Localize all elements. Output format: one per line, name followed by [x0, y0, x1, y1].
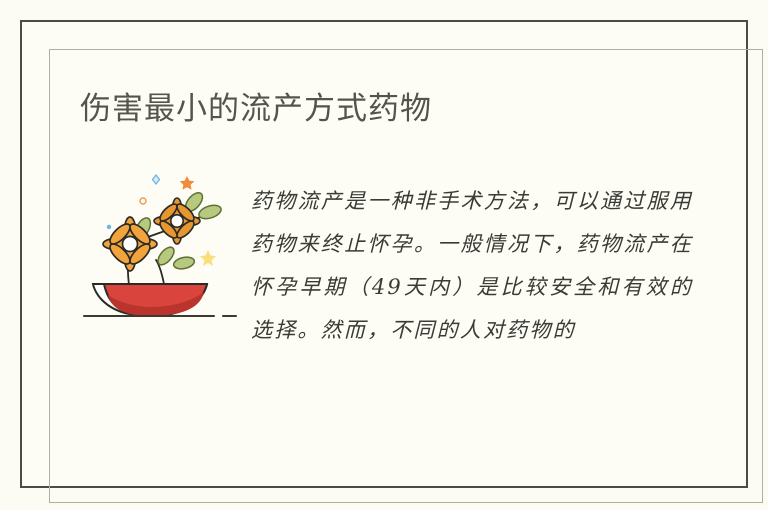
potted-flowers-svg: [80, 164, 240, 329]
page-title: 伤害最小的流产方式药物: [80, 88, 432, 130]
sparkle-orange-dot-icon: [140, 198, 146, 204]
body-paragraph: 药物流产是一种非手术方法，可以通过服用药物来终止怀孕。一般情况下，药物流产在怀孕…: [251, 180, 693, 352]
sparkle-yellow-star-icon: [200, 250, 216, 266]
flower-pot: [93, 284, 207, 316]
document-page: 伤害最小的流产方式药物: [0, 0, 768, 510]
sparkle-blue-diamond-icon: [153, 175, 160, 184]
sparkle-orange-star-icon: [180, 176, 195, 190]
outer-frame-border: 伤害最小的流产方式药物: [20, 20, 748, 488]
potted-flowers-illustration: [80, 164, 240, 329]
sparkle-blue-dot-icon: [107, 225, 111, 229]
